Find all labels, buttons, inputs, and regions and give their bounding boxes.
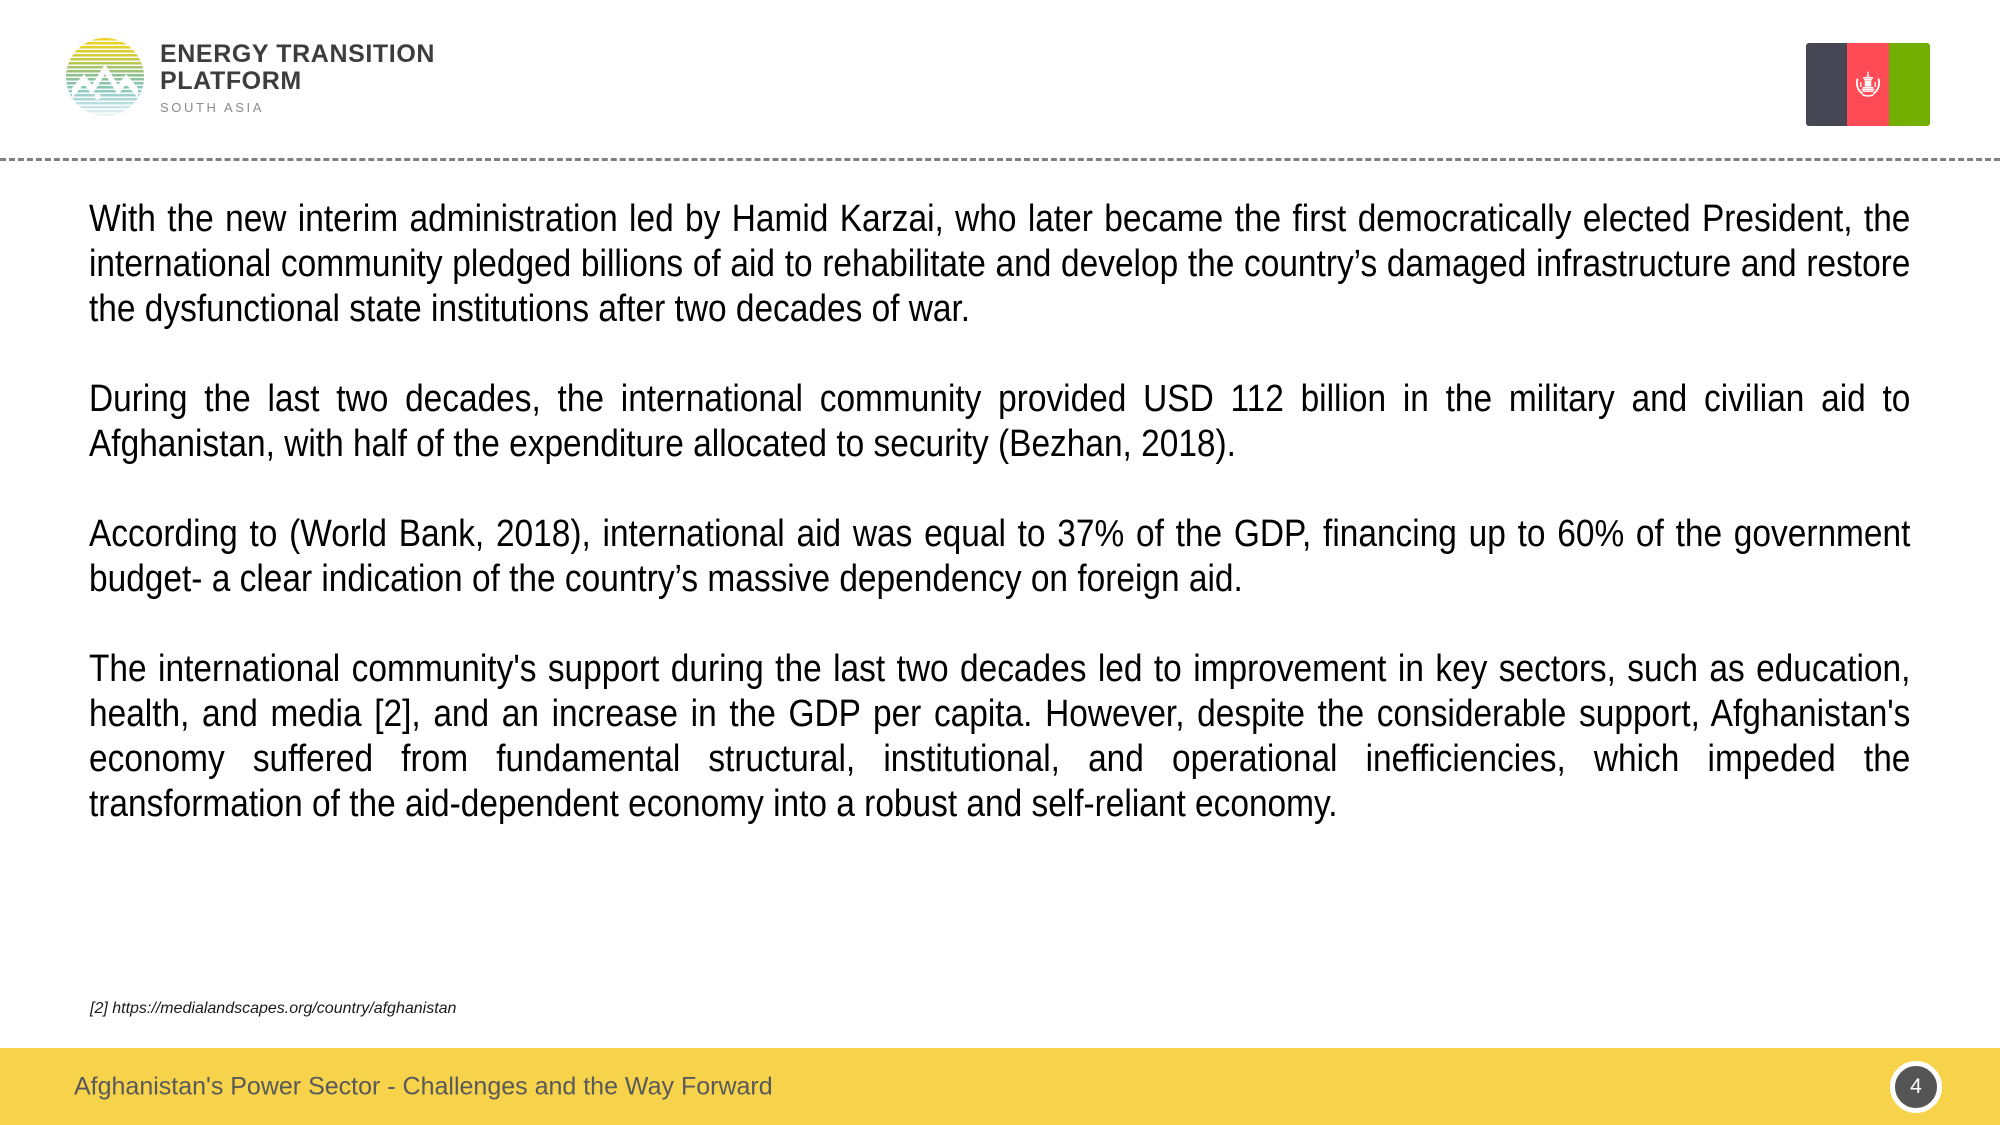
- etp-logo: ENERGY TRANSITION PLATFORM SOUTH ASIA: [66, 38, 435, 116]
- page-number-value: 4: [1910, 1076, 1922, 1097]
- header-dashed-divider: [0, 158, 2000, 161]
- etp-logo-subtitle: SOUTH ASIA: [160, 100, 435, 115]
- paragraph-3: According to (World Bank, 2018), interna…: [89, 512, 1910, 602]
- etp-logo-line1: ENERGY TRANSITION: [160, 41, 435, 68]
- slide-footer: Afghanistan's Power Sector - Challenges …: [0, 1048, 2000, 1125]
- afghanistan-flag-icon: [1806, 43, 1930, 126]
- afghanistan-emblem-icon: [1850, 67, 1886, 103]
- paragraph-2: During the last two decades, the interna…: [89, 377, 1910, 467]
- flag-band-green: [1889, 43, 1930, 126]
- page-number-badge: 4: [1890, 1061, 1942, 1113]
- paragraph-1: With the new interim administration led …: [89, 197, 1910, 332]
- paragraph-4: The international community's support du…: [89, 647, 1910, 827]
- etp-logo-line2: PLATFORM: [160, 68, 435, 95]
- footer-title: Afghanistan's Power Sector - Challenges …: [74, 1072, 773, 1101]
- footnote-reference[interactable]: [2] https://medialandscapes.org/country/…: [90, 1000, 456, 1018]
- slide-header: ENERGY TRANSITION PLATFORM SOUTH ASIA: [0, 0, 2000, 160]
- flag-band-red: [1847, 43, 1888, 126]
- etp-logo-wordmark: ENERGY TRANSITION PLATFORM SOUTH ASIA: [160, 39, 435, 115]
- etp-sun-wave-logo-mark-icon: [66, 38, 144, 116]
- flag-band-black: [1806, 43, 1847, 126]
- slide-root: ENERGY TRANSITION PLATFORM SOUTH ASIA: [0, 0, 2000, 1125]
- slide-body: With the new interim administration led …: [89, 197, 1911, 827]
